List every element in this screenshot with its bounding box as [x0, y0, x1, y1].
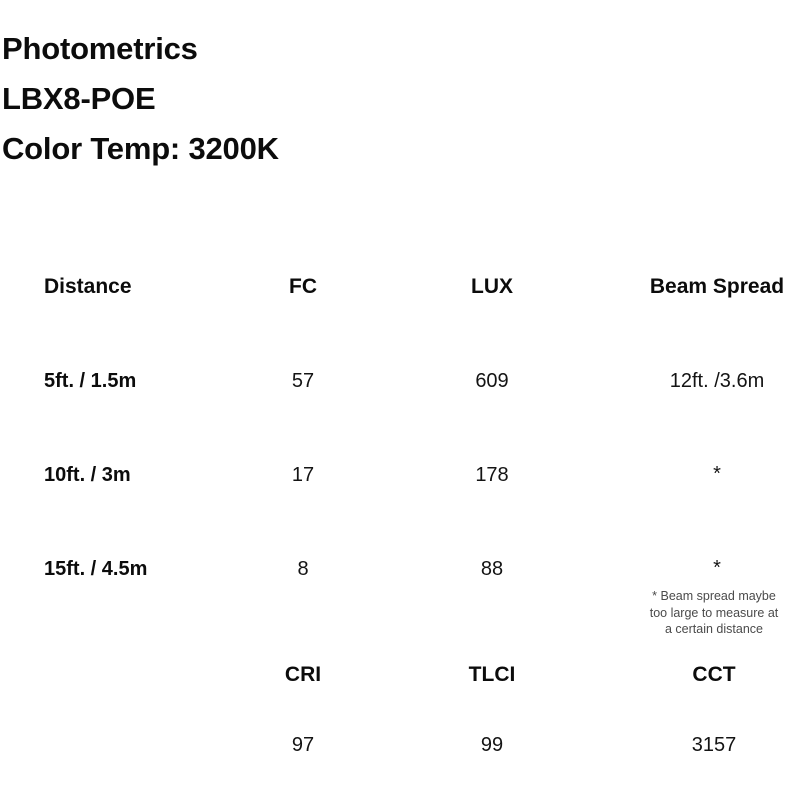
- cell-cri-value: 97: [253, 732, 353, 758]
- column-header-tlci: TLCI: [438, 662, 546, 688]
- cell-distance: 10ft. / 3m: [44, 462, 131, 488]
- column-header-cri: CRI: [253, 662, 353, 688]
- color-quality-value-row: 97 99 3157: [0, 732, 800, 802]
- color-temp-title: Color Temp: 3200K: [2, 124, 502, 174]
- cell-cct-value: 3157: [634, 732, 794, 758]
- column-header-fc: FC: [253, 274, 353, 300]
- title-block: Photometrics LBX8-POE Color Temp: 3200K: [2, 24, 502, 174]
- color-quality-table: CRI TLCI CCT 97 99 3157: [0, 662, 800, 802]
- cell-beam-spread-asterisk: *: [634, 556, 800, 580]
- table-row: 10ft. / 3m 17 178 *: [0, 462, 800, 556]
- footnote-line-2: too large to measure at: [624, 605, 800, 622]
- cell-lux: 178: [438, 462, 546, 488]
- table-row: 5ft. / 1.5m 57 609 12ft. /3.6m: [0, 368, 800, 462]
- cell-distance: 15ft. / 4.5m: [44, 556, 147, 582]
- column-header-lux: LUX: [438, 274, 546, 300]
- color-quality-header-row: CRI TLCI CCT: [0, 662, 800, 732]
- cell-tlci-value: 99: [438, 732, 546, 758]
- cell-fc: 17: [253, 462, 353, 488]
- cell-fc: 57: [253, 368, 353, 394]
- cell-beam-spread-asterisk: *: [634, 462, 800, 486]
- footnote-line-1: * Beam spread maybe: [624, 588, 800, 605]
- column-header-cct: CCT: [634, 662, 794, 688]
- footnote-line-3: a certain distance: [624, 621, 800, 638]
- cell-lux: 88: [438, 556, 546, 582]
- column-header-distance: Distance: [44, 274, 132, 300]
- photometrics-spec-sheet: Photometrics LBX8-POE Color Temp: 3200K …: [0, 0, 800, 800]
- cell-beam-spread: 12ft. /3.6m: [634, 368, 800, 394]
- cell-fc: 8: [253, 556, 353, 582]
- page-title: Photometrics: [2, 24, 502, 74]
- table-header-row: Distance FC LUX Beam Spread: [0, 274, 800, 368]
- cell-lux: 609: [438, 368, 546, 394]
- column-header-beam-spread: Beam Spread: [634, 274, 800, 300]
- product-model-title: LBX8-POE: [2, 74, 502, 124]
- cell-distance: 5ft. / 1.5m: [44, 368, 136, 394]
- beam-spread-footnote: * Beam spread maybe too large to measure…: [624, 588, 800, 638]
